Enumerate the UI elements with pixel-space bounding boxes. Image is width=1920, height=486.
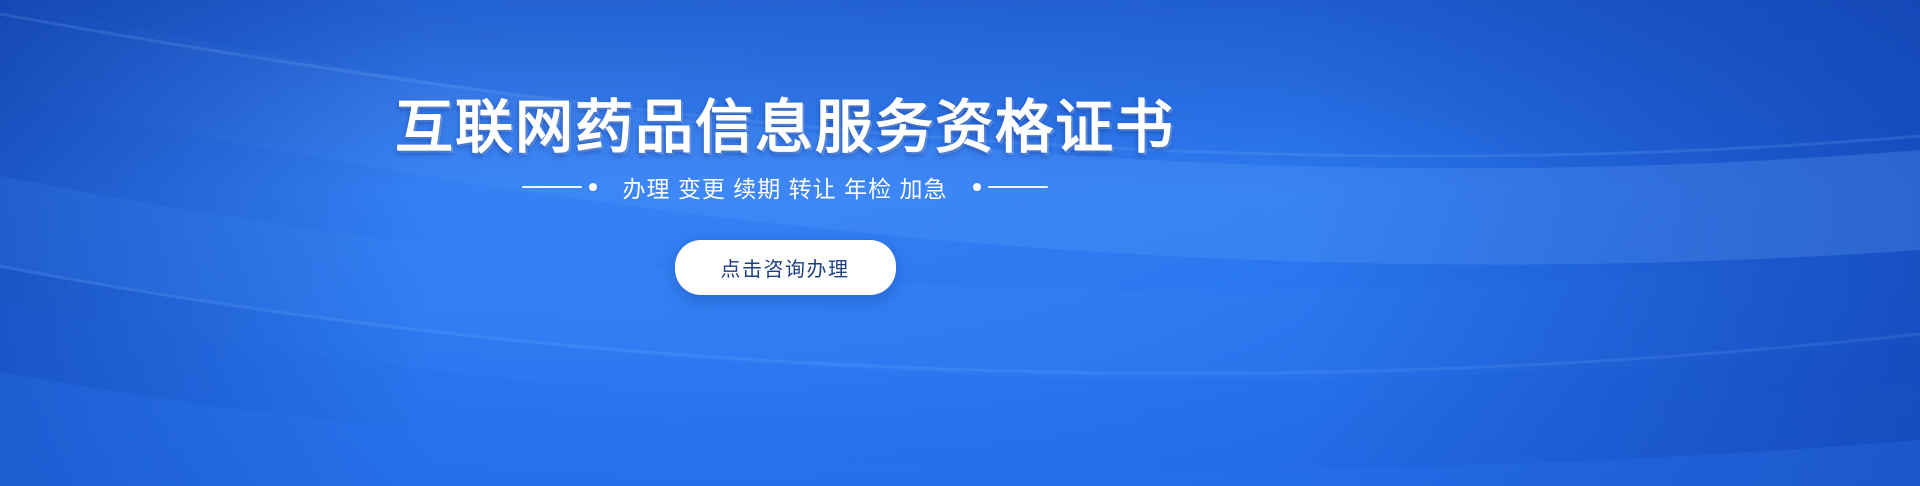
- decoration-dot: [973, 183, 981, 191]
- cta-container: 点击咨询办理: [0, 240, 1570, 295]
- decoration-line: [522, 186, 582, 188]
- banner-subtitle-row: 办理 变更 续期 转让 年检 加急: [0, 170, 1570, 204]
- decoration-dot: [589, 183, 597, 191]
- banner-subtitle: 办理 变更 续期 转让 年检 加急: [611, 170, 960, 204]
- banner-content: 互联网药品信息服务资格证书 办理 变更 续期 转让 年检 加急 点击咨询办理: [0, 0, 1920, 486]
- consult-cta-button[interactable]: 点击咨询办理: [675, 240, 896, 295]
- promo-banner: 互联网药品信息服务资格证书 办理 变更 续期 转让 年检 加急 点击咨询办理: [0, 0, 1920, 486]
- banner-title: 互联网药品信息服务资格证书: [0, 92, 1570, 164]
- dot-line-decoration-icon: [973, 183, 1048, 191]
- line-dot-decoration-icon: [522, 183, 597, 191]
- decoration-line: [988, 186, 1048, 188]
